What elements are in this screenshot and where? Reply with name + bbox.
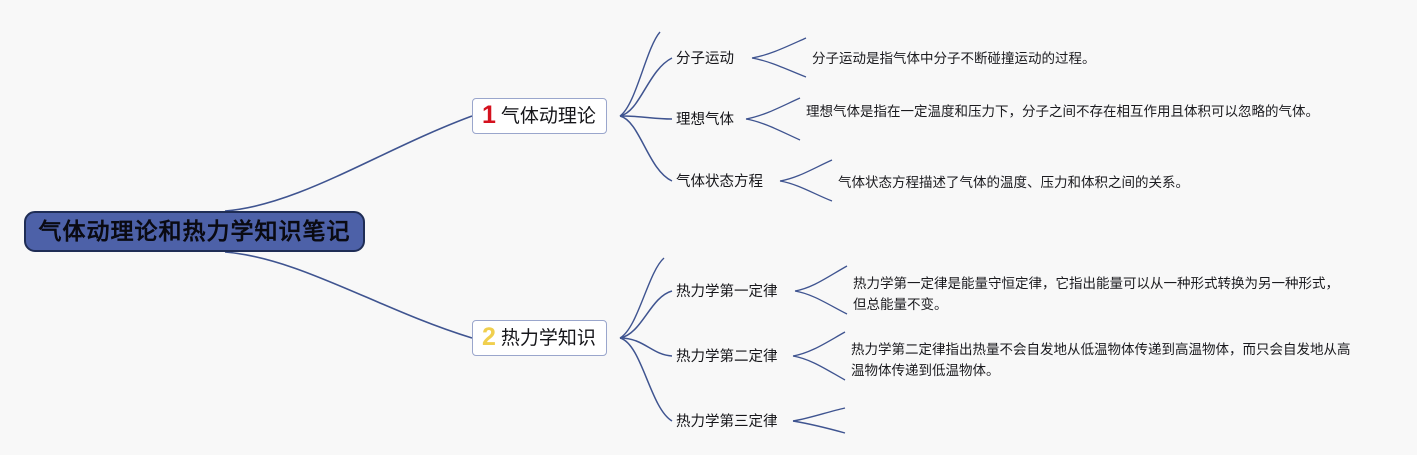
leaf-label-molecular-motion[interactable]: 分子运动: [676, 52, 734, 67]
leaf-label-gas-state-equation[interactable]: 气体状态方程: [676, 175, 763, 190]
tail-leaf-2-2: [791, 332, 845, 380]
tail-leaf-2-3: [793, 408, 845, 433]
leaf-label-third-law[interactable]: 热力学第三定律: [676, 415, 778, 430]
tail-leaf-1-2: [744, 98, 800, 140]
connector-root-to-branch-2: [225, 252, 472, 338]
description-gas-state-equation: 气体状态方程描述了气体的温度、压力和体积之间的关系。: [838, 172, 1308, 193]
connector-branch-1-leaf-1-alt: [620, 32, 660, 116]
connector-branch-1-leaf-2: [620, 116, 672, 119]
root-node[interactable]: 气体动理论和热力学知识笔记: [24, 211, 365, 252]
tail-leaf-1-3: [778, 160, 832, 201]
description-molecular-motion: 分子运动是指气体中分子不断碰撞运动的过程。: [812, 48, 1332, 69]
tail-leaf-2-1: [793, 266, 847, 314]
root-label: 气体动理论和热力学知识笔记: [39, 220, 351, 243]
connector-branch-2-leaf-2: [620, 338, 672, 356]
leaf-label-ideal-gas[interactable]: 理想气体: [676, 113, 734, 128]
description-first-law: 热力学第一定律是能量守恒定律，它指出能量可以从一种形式转换为另一种形式，但总能量…: [853, 273, 1351, 315]
description-second-law: 热力学第二定律指出热量不会自发地从低温物体传递到高温物体，而只会自发地从高温物体…: [851, 339, 1359, 381]
branch-node-2[interactable]: 2 热力学知识: [472, 320, 607, 356]
leaf-label-second-law[interactable]: 热力学第二定律: [676, 350, 778, 365]
connector-branch-1-leaf-1: [620, 58, 672, 116]
connector-branch-2-leaf-1-alt: [620, 258, 664, 338]
branch-1-label: 气体动理论: [501, 107, 596, 126]
mindmap-canvas: 气体动理论和热力学知识笔记 1 气体动理论 2 热力学知识 分子运动 理想气体 …: [0, 0, 1417, 455]
leaf-label-first-law[interactable]: 热力学第一定律: [676, 285, 778, 300]
branch-2-label: 热力学知识: [501, 329, 596, 348]
connector-branch-1-leaf-3: [620, 116, 672, 181]
branch-2-number: 2: [482, 325, 496, 350]
branch-1-number: 1: [482, 103, 496, 128]
branch-node-1[interactable]: 1 气体动理论: [472, 98, 607, 134]
description-ideal-gas: 理想气体是指在一定温度和压力下，分子之间不存在相互作用且体积可以忽略的气体。: [806, 101, 1342, 122]
tail-leaf-1-1: [750, 38, 806, 77]
connector-root-to-branch-1: [225, 116, 472, 211]
connector-branch-2-leaf-3: [620, 338, 672, 421]
connector-branch-2-leaf-1: [620, 291, 672, 338]
